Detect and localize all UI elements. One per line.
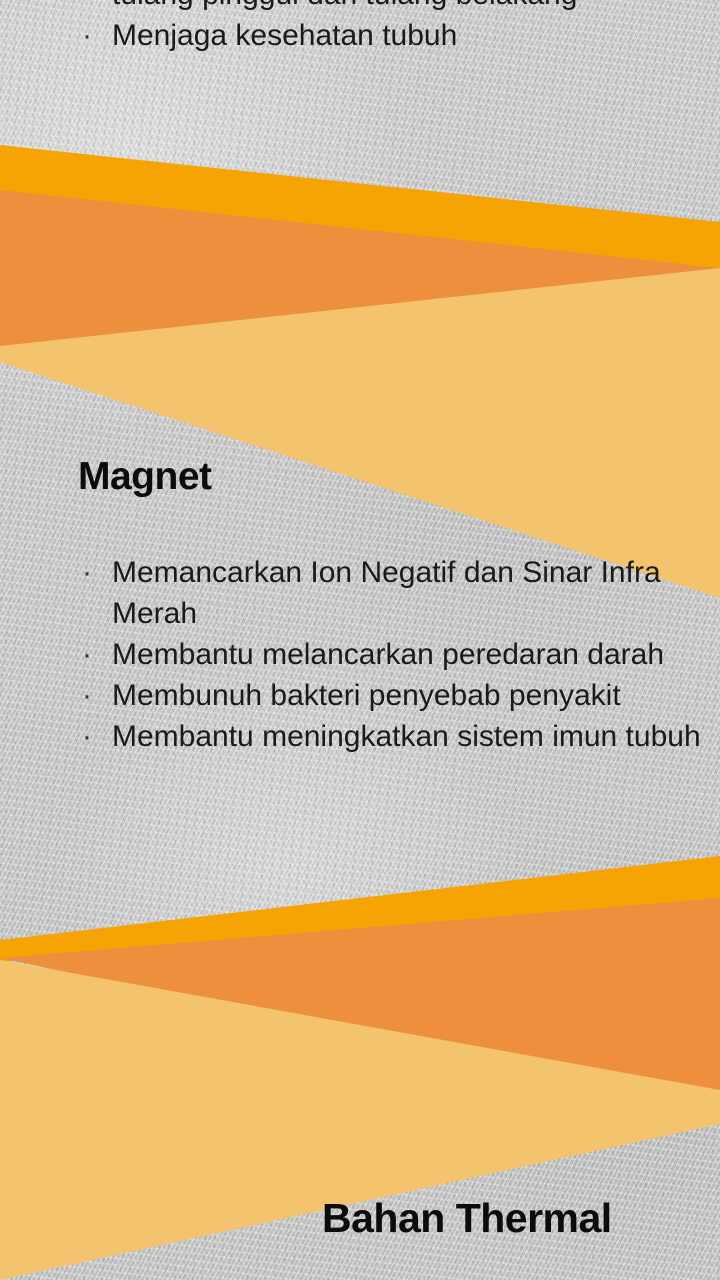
upper-light-amber-wedge — [0, 268, 720, 598]
bullet-marker-icon: · — [82, 675, 92, 716]
poster-page: · tulang pinggul dan tulang belakang · M… — [0, 0, 720, 1280]
page-title-bahan-thermal: Bahan Thermal — [322, 1195, 612, 1242]
lower-mid-orange-wedge — [0, 898, 720, 1112]
list-item: · Membantu meningkatkan sistem imun tubu… — [70, 716, 710, 757]
list-item-text: Membunuh bakteri penyebab penyakit — [112, 679, 621, 712]
list-item-text: Memancarkan Ion Negatif dan Sinar Infra … — [112, 556, 661, 630]
bullet-marker-icon: · — [82, 0, 92, 15]
upper-bright-orange-stripe — [0, 145, 720, 272]
bullet-marker-icon: · — [82, 552, 92, 593]
list-item-text: Membantu melancarkan peredaran darah — [112, 638, 664, 671]
top-bullets: · tulang pinggul dan tulang belakang · M… — [70, 0, 670, 56]
list-item-text: Menjaga kesehatan tubuh — [112, 19, 457, 52]
bullet-marker-icon: · — [82, 15, 92, 56]
magnet-bullet-list: · Memancarkan Ion Negatif dan Sinar Infr… — [70, 552, 710, 757]
upper-mid-orange-wedge — [0, 190, 720, 352]
list-item: · Memancarkan Ion Negatif dan Sinar Infr… — [70, 552, 710, 634]
list-item: · tulang pinggul dan tulang belakang — [70, 0, 670, 15]
list-item: · Menjaga kesehatan tubuh — [70, 15, 670, 56]
page-title-magnet: Magnet — [78, 455, 212, 499]
bullet-marker-icon: · — [82, 716, 92, 757]
list-item-text: tulang pinggul dan tulang belakang — [112, 0, 577, 11]
top-bullet-list: · tulang pinggul dan tulang belakang · M… — [70, 0, 670, 56]
lower-bright-orange-stripe — [0, 856, 720, 962]
upper-chevron-band — [0, 145, 720, 598]
magnet-bullets: · Memancarkan Ion Negatif dan Sinar Infr… — [70, 552, 710, 757]
list-item: · Membunuh bakteri penyebab penyakit — [70, 675, 710, 716]
list-item-text: Membantu meningkatkan sistem imun tubuh — [112, 720, 701, 753]
bullet-marker-icon: · — [82, 634, 92, 675]
list-item: · Membantu melancarkan peredaran darah — [70, 634, 710, 675]
